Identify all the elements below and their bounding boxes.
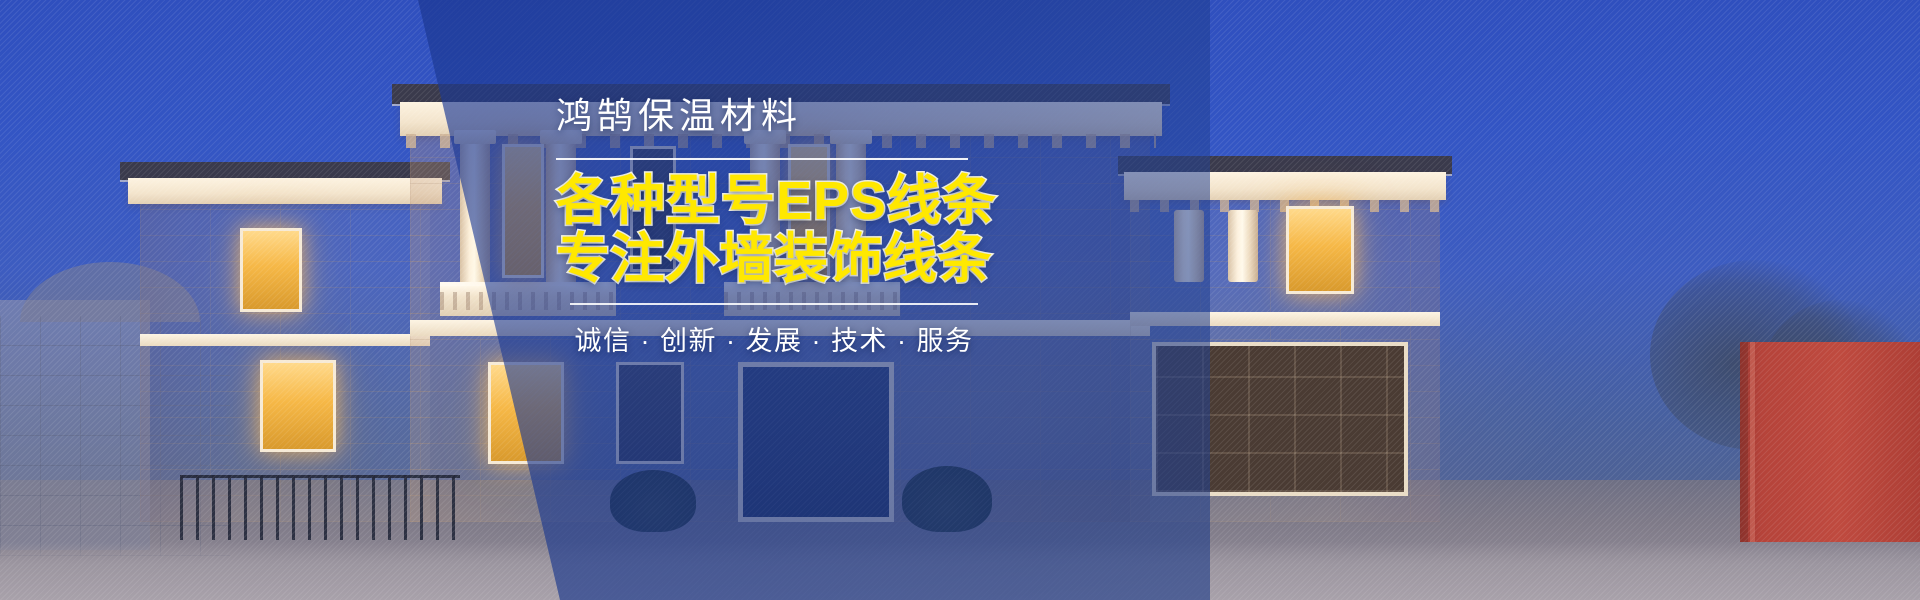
column — [1228, 210, 1258, 282]
headline-line-2: 专注外墙装饰线条 — [556, 230, 1016, 289]
divider-bottom — [570, 303, 978, 305]
window-lit — [260, 360, 336, 452]
tagline: 诚信 · 创新 · 发展 · 技术 · 服务 — [570, 319, 978, 358]
iron-railing — [180, 475, 460, 540]
left-wing-cornice — [128, 178, 442, 204]
banner-text-block: 鸿鹄保温材料 各种型号EPS线条 专注外墙装饰线条 诚信 · 创新 · 发展 ·… — [556, 96, 1016, 358]
window-lit — [1286, 206, 1354, 294]
window-lit — [240, 228, 302, 312]
brand-name: 鸿鹄保温材料 — [556, 96, 1016, 136]
hero-banner: 鸿鹄保温材料 各种型号EPS线条 专注外墙装饰线条 诚信 · 创新 · 发展 ·… — [0, 0, 1920, 600]
headline-line-1: 各种型号EPS线条 — [556, 172, 1016, 231]
string-course — [140, 334, 430, 346]
left-wing-shading — [140, 172, 430, 522]
divider-top — [556, 158, 968, 160]
red-container — [1740, 342, 1920, 542]
